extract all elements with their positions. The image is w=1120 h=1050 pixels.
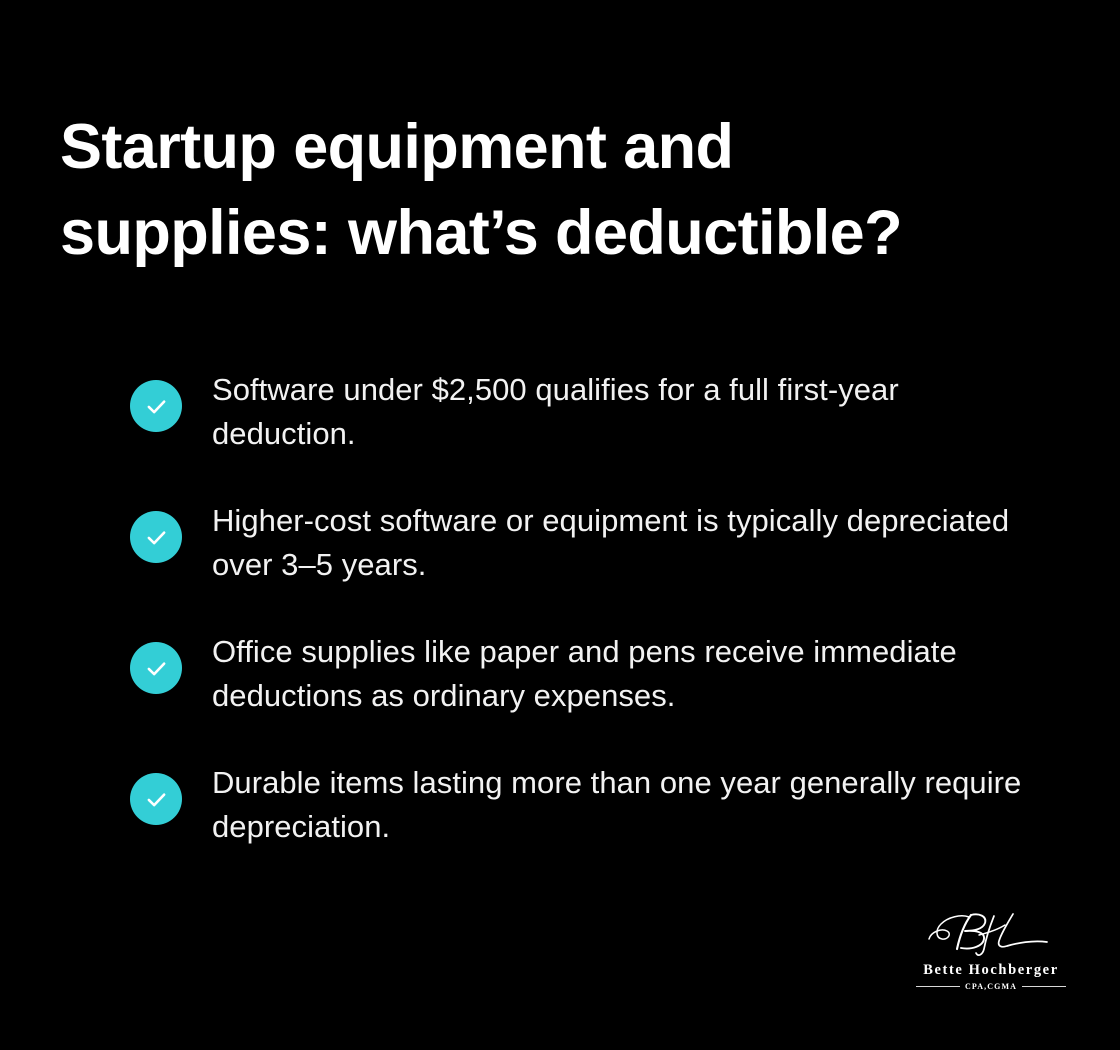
title-block: Startup equipment and supplies: what’s d… [60,104,1020,276]
list-item: Durable items lasting more than one year… [130,761,1030,849]
check-circle-icon [130,773,182,825]
brand-credentials: CPA,CGMA [965,982,1017,991]
check-circle-icon [130,511,182,563]
check-circle-icon [130,642,182,694]
slide-canvas: Startup equipment and supplies: what’s d… [0,0,1120,1050]
list-item: Software under $2,500 qualifies for a fu… [130,368,1030,456]
bh-monogram-icon [921,905,1061,959]
brand-credentials-row: CPA,CGMA [916,982,1066,991]
list-item-text: Office supplies like paper and pens rece… [212,630,1030,718]
list-item-text: Higher-cost software or equipment is typ… [212,499,1030,587]
rule-left [916,986,960,987]
list-item: Higher-cost software or equipment is typ… [130,499,1030,587]
list-item: Office supplies like paper and pens rece… [130,630,1030,718]
list-item-text: Software under $2,500 qualifies for a fu… [212,368,1030,456]
brand-logo: Bette Hochberger CPA,CGMA [916,905,1066,991]
brand-name: Bette Hochberger [916,962,1066,979]
rule-right [1022,986,1066,987]
page-title: Startup equipment and supplies: what’s d… [60,104,1020,276]
checklist: Software under $2,500 qualifies for a fu… [130,368,1030,849]
check-circle-icon [130,380,182,432]
list-item-text: Durable items lasting more than one year… [212,761,1030,849]
